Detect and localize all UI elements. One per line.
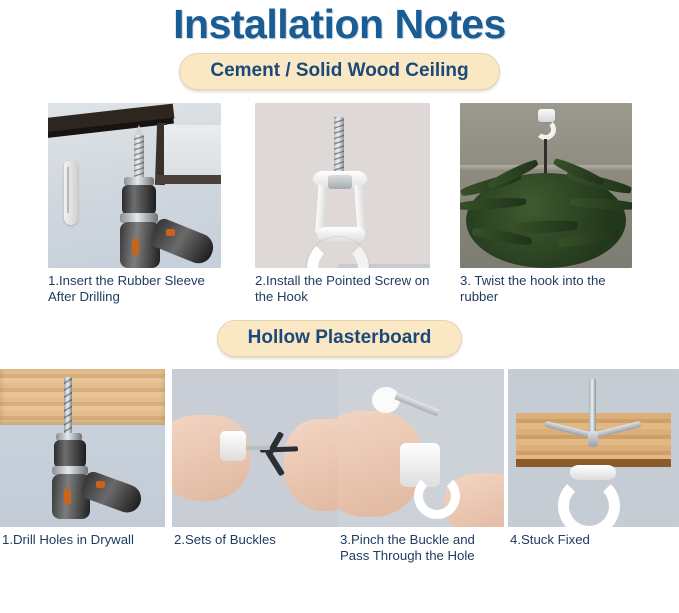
step-cement-3-caption: 3. Twist the hook into the rubber <box>460 268 638 304</box>
step-plaster-2-caption: 2.Sets of Buckles <box>172 527 332 548</box>
step-plaster-4: 4.Stuck Fixed <box>508 369 679 563</box>
rubber-sleeve <box>64 161 78 225</box>
step-plaster-1-caption: 1.Drill Holes in Drywall <box>0 527 168 548</box>
step-plaster-3: 3.Pinch the Buckle and Pass Through the … <box>338 369 508 563</box>
step-plaster-3-caption: 3.Pinch the Buckle and Pass Through the … <box>338 527 503 563</box>
step-plaster-1: 1.Drill Holes in Drywall <box>0 369 172 563</box>
section-heading-cement-label: Cement / Solid Wood Ceiling <box>179 53 499 90</box>
cement-steps-row: 1.Insert the Rubber Sleeve After Drillin… <box>0 103 679 304</box>
step-plaster-2: 2.Sets of Buckles <box>172 369 338 563</box>
step-cement-3: 3. Twist the hook into the rubber <box>460 103 632 304</box>
step-cement-1-caption: 1.Insert the Rubber Sleeve After Drillin… <box>48 268 233 304</box>
step-cement-2-image <box>255 103 430 268</box>
step-plaster-3-image <box>338 369 504 527</box>
step-plaster-4-caption: 4.Stuck Fixed <box>508 527 676 548</box>
step-cement-3-image <box>460 103 632 268</box>
section-heading-cement: Cement / Solid Wood Ceiling <box>0 53 679 90</box>
section-heading-plasterboard: Hollow Plasterboard <box>0 320 679 357</box>
step-cement-1-image <box>48 103 221 268</box>
step-cement-2-caption: 2.Install the Pointed Screw on the Hook <box>255 268 430 304</box>
step-cement-1: 1.Insert the Rubber Sleeve After Drillin… <box>48 103 255 304</box>
step-cement-2: 2.Install the Pointed Screw on the Hook <box>255 103 460 304</box>
step-plaster-4-image <box>508 369 679 527</box>
section-heading-plasterboard-label: Hollow Plasterboard <box>217 320 463 357</box>
plasterboard-steps-row: 1.Drill Holes in Drywall 2.Sets of Buckl… <box>0 369 679 563</box>
step-plaster-2-image <box>172 369 338 527</box>
step-plaster-1-image <box>0 369 165 527</box>
page-title: Installation Notes <box>0 0 679 45</box>
